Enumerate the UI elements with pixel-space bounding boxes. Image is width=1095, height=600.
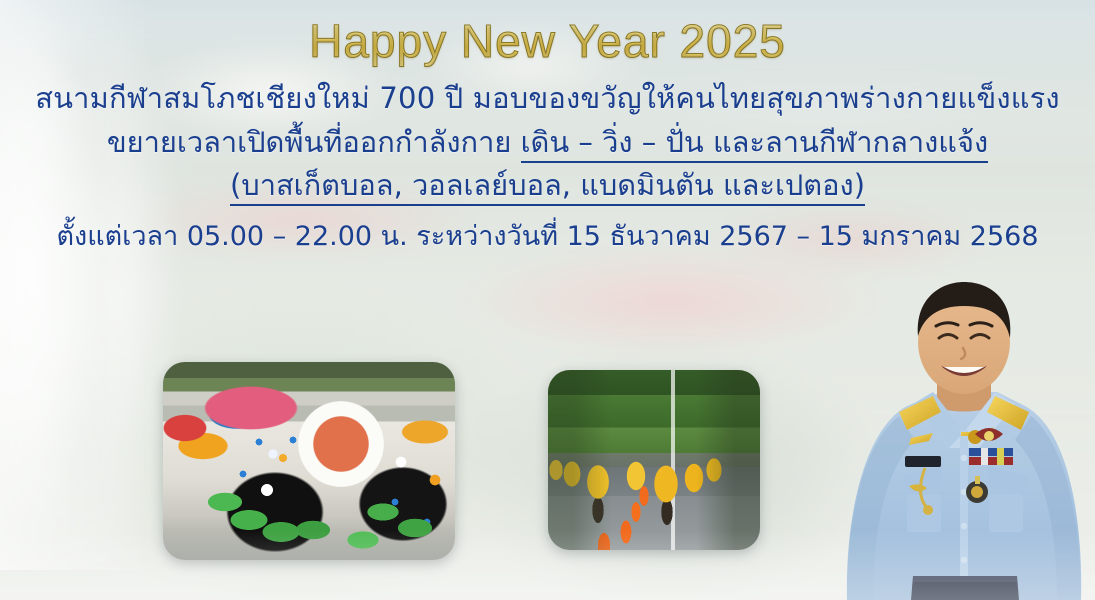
announcement-line-3-underlined: (บาสเก็ตบอล, วอลเลย์บอล, แบดมินตัน และเป… <box>230 168 865 206</box>
painted-court-photo <box>163 362 455 560</box>
announcement-line-4: ตั้งแต่เวลา 05.00 – 22.00 น. ระหว่างวันท… <box>0 219 1095 254</box>
officer-portrait <box>829 280 1095 600</box>
announcement-text-block: สนามกีฬาสมโภชเชียงใหม่ 700 ปี มอบของขวัญ… <box>0 80 1095 254</box>
new-year-announcement-poster: Happy New Year 2025 สนามกีฬาสมโภชเชียงให… <box>0 0 1095 600</box>
announcement-line-2-plain: ขยายเวลาเปิดพื้นที่ออกกำลังกาย <box>107 125 521 159</box>
announcement-line-2: ขยายเวลาเปิดพื้นที่ออกกำลังกาย เดิน – วิ… <box>0 124 1095 162</box>
announcement-line-3: (บาสเก็ตบอล, วอลเลย์บอล, แบดมินตัน และเป… <box>0 167 1095 205</box>
runners-artwork <box>548 370 760 550</box>
runners-photo <box>548 370 760 550</box>
announcement-line-1: สนามกีฬาสมโภชเชียงใหม่ 700 ปี มอบของขวัญ… <box>0 80 1095 118</box>
painted-court-artwork <box>163 362 455 560</box>
poster-title: Happy New Year 2025 <box>0 16 1095 67</box>
announcement-line-2-underlined: เดิน – วิ่ง – ปั่น และลานกีฬากลางแจ้ง <box>521 125 989 163</box>
